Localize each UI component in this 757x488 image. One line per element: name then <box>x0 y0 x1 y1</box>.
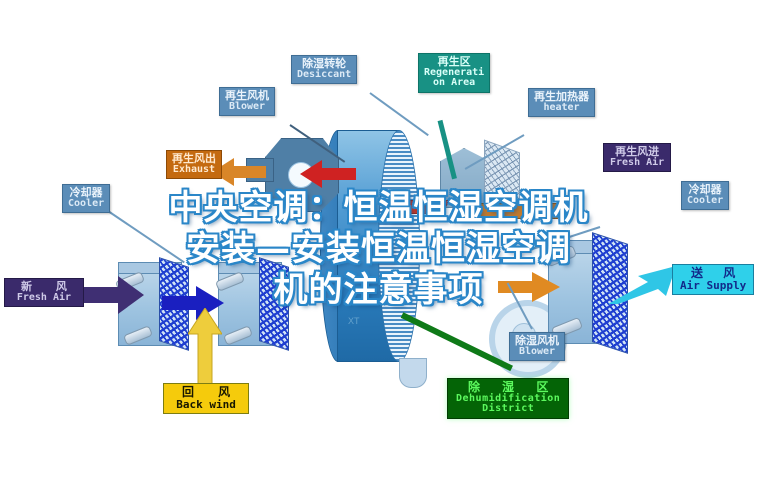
label-dehum-blower-cn: 除湿风机 <box>515 335 559 347</box>
diagram-canvas: XT <box>0 0 757 488</box>
label-desiccant-cn: 除湿转轮 <box>297 58 351 70</box>
label-regen-intake-en: Fresh Air <box>610 158 664 169</box>
label-regen-blower[interactable]: 再生风机 Blower <box>219 87 275 116</box>
label-cooler-right[interactable]: 冷却器 Cooler <box>681 181 729 210</box>
label-regen-exhaust-cn: 再生风出 <box>172 153 216 165</box>
label-regen-heater[interactable]: 再生加热器 heater <box>528 88 595 117</box>
wheel-support-foot <box>399 358 427 388</box>
label-regen-area-en2: on Area <box>424 78 484 89</box>
back-wind-arrow <box>188 308 222 384</box>
label-regen-exhaust[interactable]: 再生风出 Exhaust <box>166 150 222 179</box>
label-cooler-left[interactable]: 冷却器 Cooler <box>62 184 110 213</box>
label-cooler-left-cn: 冷却器 <box>68 187 104 199</box>
dehumidified-air-arrow <box>498 272 560 302</box>
label-dehum-blower[interactable]: 除湿风机 Blower <box>509 332 565 361</box>
label-cooler-left-en: Cooler <box>68 199 104 210</box>
label-air-supply[interactable]: 送 风 Air Supply <box>672 264 754 295</box>
label-regen-blower-en: Blower <box>225 102 269 113</box>
label-dehum-district-cn: 除 湿 区 <box>456 381 560 394</box>
regen-heater-base <box>448 203 567 219</box>
cooling-coil-mid <box>259 257 289 351</box>
label-regen-heater-en: heater <box>534 103 589 114</box>
label-back-wind[interactable]: 回 风 Back wind <box>163 383 249 414</box>
label-fresh-air[interactable]: 新 风 Fresh Air <box>4 278 84 307</box>
label-fresh-air-cn: 新 风 <box>11 281 77 293</box>
label-dehum-district[interactable]: 除 湿 区 Dehumidification District <box>447 378 569 419</box>
label-regen-intake[interactable]: 再生风进 Fresh Air <box>603 143 671 172</box>
label-air-supply-cn: 送 风 <box>680 267 746 280</box>
label-desiccant[interactable]: 除湿转轮 Desiccant <box>291 55 357 84</box>
label-regen-exhaust-en: Exhaust <box>172 165 216 176</box>
diagram-watermark: XT <box>348 316 360 326</box>
label-regen-heater-cn: 再生加热器 <box>534 91 589 103</box>
label-regen-intake-cn: 再生风进 <box>610 146 664 158</box>
label-regen-blower-cn: 再生风机 <box>225 90 269 102</box>
label-back-wind-en: Back wind <box>172 399 240 411</box>
air-supply-arrow <box>608 262 676 304</box>
label-dehum-blower-en: Blower <box>515 347 559 358</box>
label-desiccant-en: Desiccant <box>297 70 351 81</box>
label-fresh-air-en: Fresh Air <box>11 293 77 304</box>
label-cooler-right-en: Cooler <box>687 196 723 207</box>
regen-heater-base-red <box>402 200 449 214</box>
desiccant-wheel-front-face <box>378 130 420 362</box>
label-regen-area[interactable]: 再生区 Regenerati on Area <box>418 53 490 93</box>
label-air-supply-en: Air Supply <box>680 280 746 292</box>
leader-cooler-left <box>107 210 184 263</box>
label-back-wind-cn: 回 风 <box>172 386 240 399</box>
label-cooler-right-cn: 冷却器 <box>687 184 723 196</box>
regen-air-arrow-red <box>300 160 356 188</box>
label-dehum-district-en2: District <box>456 404 560 415</box>
label-regen-area-cn: 再生区 <box>424 56 484 68</box>
fresh-air-arrow <box>82 276 144 314</box>
